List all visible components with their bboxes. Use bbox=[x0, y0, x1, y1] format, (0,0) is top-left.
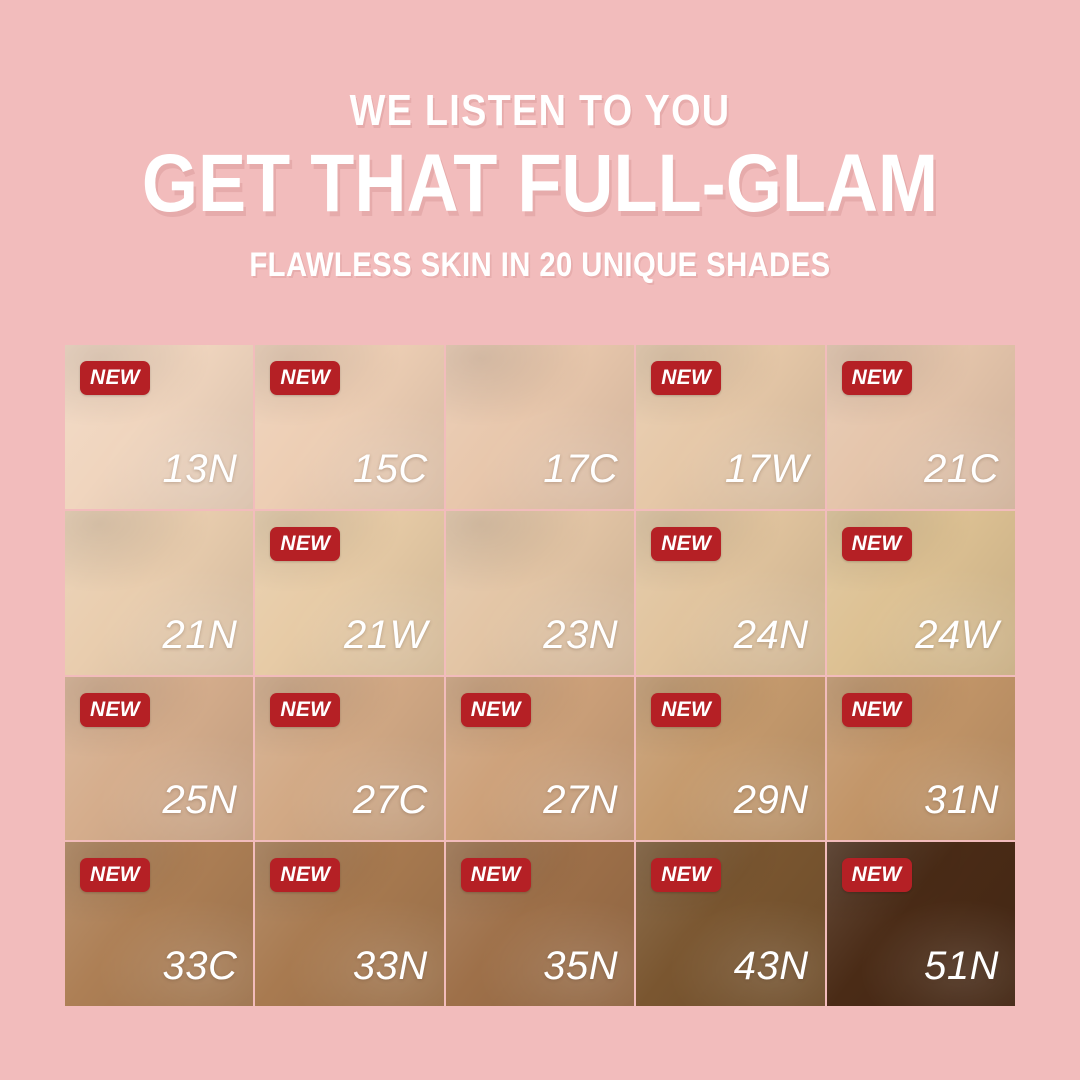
shade-swatch[interactable]: NEW51N bbox=[827, 842, 1015, 1006]
new-badge: NEW bbox=[80, 858, 150, 892]
shade-code-label: 25N bbox=[163, 778, 238, 822]
shade-code-label: 24N bbox=[734, 613, 809, 657]
new-badge: NEW bbox=[651, 693, 721, 727]
new-badge: NEW bbox=[842, 693, 912, 727]
shade-swatch[interactable]: NEW23N bbox=[446, 511, 634, 675]
subheadline-text: FLAWLESS SKIN IN 20 UNIQUE SHADES bbox=[76, 244, 1005, 286]
shade-code-label: 31N bbox=[924, 778, 999, 822]
shade-code-label: 23N bbox=[543, 613, 618, 657]
shade-swatch[interactable]: NEW33C bbox=[65, 842, 253, 1006]
shade-swatch[interactable]: NEW15C bbox=[255, 345, 443, 509]
header-block: WE LISTEN TO YOU GET THAT FULL-GLAM FLAW… bbox=[0, 86, 1080, 286]
shade-code-label: 21W bbox=[344, 613, 428, 657]
new-badge: NEW bbox=[461, 693, 531, 727]
shade-code-label: 29N bbox=[734, 778, 809, 822]
shade-code-label: 13N bbox=[163, 447, 238, 491]
shade-swatch-grid: NEW13NNEW15CNEW17CNEW17WNEW21CNEW21NNEW2… bbox=[65, 345, 1015, 1006]
new-badge: NEW bbox=[651, 361, 721, 395]
shade-swatch[interactable]: NEW25N bbox=[65, 677, 253, 841]
shade-swatch[interactable]: NEW35N bbox=[446, 842, 634, 1006]
new-badge: NEW bbox=[842, 858, 912, 892]
shade-code-label: 17C bbox=[543, 447, 618, 491]
shade-code-label: 51N bbox=[924, 944, 999, 988]
shade-swatch[interactable]: NEW24N bbox=[636, 511, 824, 675]
shade-swatch[interactable]: NEW21W bbox=[255, 511, 443, 675]
page-title: GET THAT FULL-GLAM bbox=[65, 138, 1015, 230]
shade-code-label: 27C bbox=[353, 778, 428, 822]
shade-code-label: 33N bbox=[353, 944, 428, 988]
shade-swatch[interactable]: NEW33N bbox=[255, 842, 443, 1006]
shade-code-label: 17W bbox=[725, 447, 809, 491]
shade-swatch[interactable]: NEW27N bbox=[446, 677, 634, 841]
shade-swatch[interactable]: NEW13N bbox=[65, 345, 253, 509]
eyebrow-text: WE LISTEN TO YOU bbox=[76, 86, 1005, 136]
shade-swatch[interactable]: NEW17W bbox=[636, 345, 824, 509]
shade-swatch[interactable]: NEW21C bbox=[827, 345, 1015, 509]
new-badge: NEW bbox=[842, 527, 912, 561]
new-badge: NEW bbox=[80, 693, 150, 727]
shade-range-poster: WE LISTEN TO YOU GET THAT FULL-GLAM FLAW… bbox=[0, 0, 1080, 1080]
shade-code-label: 33C bbox=[163, 944, 238, 988]
new-badge: NEW bbox=[270, 858, 340, 892]
new-badge: NEW bbox=[842, 361, 912, 395]
shade-swatch[interactable]: NEW31N bbox=[827, 677, 1015, 841]
new-badge: NEW bbox=[270, 527, 340, 561]
shade-code-label: 24W bbox=[915, 613, 999, 657]
shade-code-label: 43N bbox=[734, 944, 809, 988]
new-badge: NEW bbox=[651, 527, 721, 561]
new-badge: NEW bbox=[80, 361, 150, 395]
shade-swatch[interactable]: NEW29N bbox=[636, 677, 824, 841]
shade-swatch[interactable]: NEW24W bbox=[827, 511, 1015, 675]
new-badge: NEW bbox=[651, 858, 721, 892]
shade-code-label: 27N bbox=[543, 778, 618, 822]
shade-swatch[interactable]: NEW43N bbox=[636, 842, 824, 1006]
shade-code-label: 35N bbox=[543, 944, 618, 988]
shade-code-label: 21C bbox=[924, 447, 999, 491]
shade-code-label: 21N bbox=[163, 613, 238, 657]
shade-swatch[interactable]: NEW21N bbox=[65, 511, 253, 675]
shade-swatch[interactable]: NEW17C bbox=[446, 345, 634, 509]
shade-code-label: 15C bbox=[353, 447, 428, 491]
shade-swatch[interactable]: NEW27C bbox=[255, 677, 443, 841]
new-badge: NEW bbox=[270, 693, 340, 727]
new-badge: NEW bbox=[270, 361, 340, 395]
new-badge: NEW bbox=[461, 858, 531, 892]
